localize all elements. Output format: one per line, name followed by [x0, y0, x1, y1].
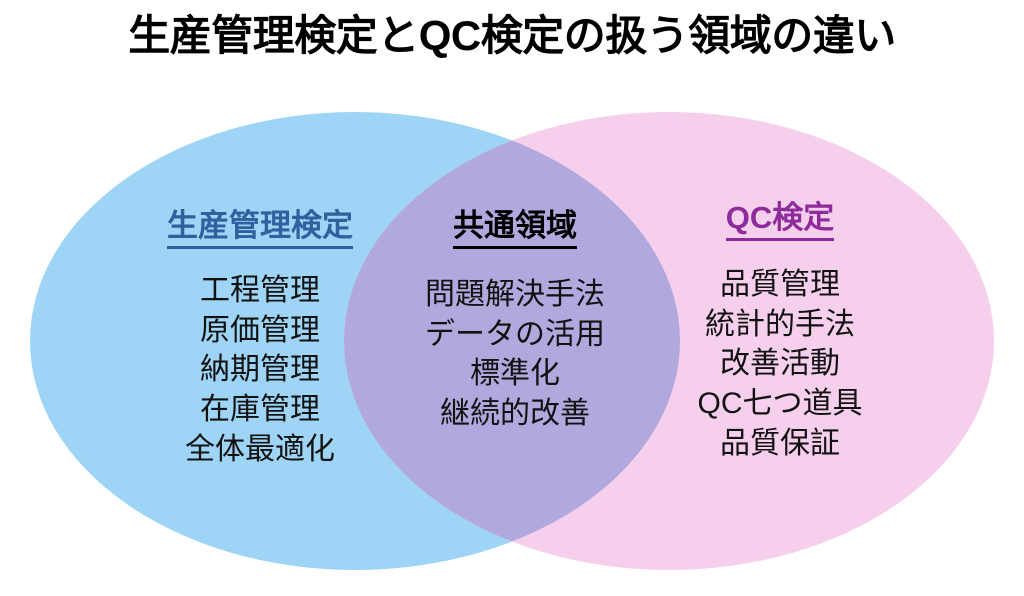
list-item: 継続的改善 [405, 394, 625, 434]
left-region-heading: 生産管理検定 [167, 208, 353, 249]
list-item: 問題解決手法 [405, 275, 625, 315]
list-item: 納期管理 [110, 350, 410, 390]
list-item: 標準化 [405, 354, 625, 394]
venn-text-layer: 生産管理検定 工程管理 原価管理 納期管理 在庫管理 全体最適化 共通領域 問題… [0, 90, 1024, 596]
list-item: 全体最適化 [110, 430, 410, 470]
list-item: 工程管理 [110, 271, 410, 311]
right-region-item-list: 品質管理 統計的手法 改善活動 QC七つ道具 品質保証 [630, 265, 930, 464]
left-region-item-list: 工程管理 原価管理 納期管理 在庫管理 全体最適化 [110, 271, 410, 470]
page-title: 生産管理検定とQC検定の扱う領域の違い [0, 12, 1024, 60]
list-item: 改善活動 [630, 344, 930, 384]
list-item: 在庫管理 [110, 390, 410, 430]
venn-region-center: 共通領域 問題解決手法 データの活用 標準化 継続的改善 [405, 208, 625, 434]
list-item: 原価管理 [110, 311, 410, 351]
center-region-heading: 共通領域 [453, 208, 577, 249]
venn-canvas: 生産管理検定 工程管理 原価管理 納期管理 在庫管理 全体最適化 共通領域 問題… [0, 90, 1024, 596]
venn-region-left: 生産管理検定 工程管理 原価管理 納期管理 在庫管理 全体最適化 [110, 208, 410, 470]
list-item: データの活用 [405, 315, 625, 355]
list-item: 品質保証 [630, 424, 930, 464]
venn-diagram-figure: 生産管理検定とQC検定の扱う領域の違い 生産管理検定 工程管理 原価管理 [0, 0, 1024, 596]
center-region-item-list: 問題解決手法 データの活用 標準化 継続的改善 [405, 275, 625, 435]
list-item: 品質管理 [630, 265, 930, 305]
right-region-heading: QC検定 [726, 200, 835, 241]
venn-region-right: QC検定 品質管理 統計的手法 改善活動 QC七つ道具 品質保証 [630, 200, 930, 464]
list-item: 統計的手法 [630, 305, 930, 345]
list-item: QC七つ道具 [630, 384, 930, 424]
